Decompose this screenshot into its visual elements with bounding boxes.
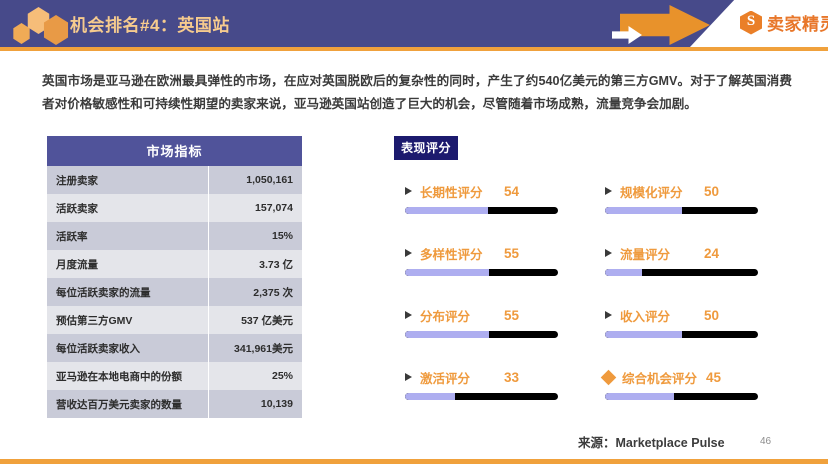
score-bar-track	[605, 207, 758, 214]
score-value: 24	[704, 246, 719, 261]
table-row: 每位活跃卖家的流量2,375 次	[47, 278, 302, 306]
table-cell-value: 2,375 次	[208, 278, 302, 306]
table-cell-value: 15%	[208, 222, 302, 250]
intro-paragraph: 英国市场是亚马逊在欧洲最具弹性的市场，在应对英国脱欧后的复杂性的同时，产生了约5…	[42, 70, 792, 116]
table-row: 亚马逊在本地电商中的份额25%	[47, 362, 302, 390]
score-item: 收入评分50	[594, 306, 794, 368]
performance-score-badge: 表现评分	[394, 136, 458, 160]
score-bar-track	[605, 331, 758, 338]
score-bar-track	[405, 331, 558, 338]
score-header-row: 规模化评分50	[594, 182, 794, 200]
table-title: 市场指标	[47, 136, 302, 166]
brand-name: 卖家精灵	[767, 10, 828, 35]
score-bar-fill	[605, 331, 682, 338]
table-cell-value: 157,074	[208, 194, 302, 222]
score-bar-fill	[405, 269, 489, 276]
table-row: 预估第三方GMV537 亿美元	[47, 306, 302, 334]
page-title: 机会排名#4：英国站	[70, 11, 230, 36]
table-row: 每位活跃卖家收入341,961美元	[47, 334, 302, 362]
score-item: 流量评分24	[594, 244, 794, 306]
score-header-row: 分布评分55	[394, 306, 594, 324]
table-cell-value: 3.73 亿	[208, 250, 302, 278]
table-cell-value: 10,139	[208, 390, 302, 418]
score-value: 55	[504, 246, 519, 261]
score-label: 分布评分	[420, 306, 496, 325]
source-label: 来源：Marketplace Pulse	[578, 432, 725, 451]
score-value: 33	[504, 370, 519, 385]
score-bar-fill	[605, 393, 674, 400]
score-bar-track	[405, 269, 558, 276]
table-cell-value: 1,050,161	[208, 166, 302, 194]
table-row: 营收达百万美元卖家的数量10,139	[47, 390, 302, 418]
score-item: 长期性评分54	[394, 182, 594, 244]
score-item: 激活评分33	[394, 368, 594, 430]
score-item: 多样性评分55	[394, 244, 594, 306]
score-item: 分布评分55	[394, 306, 594, 368]
score-bar-fill	[605, 207, 682, 214]
table-cell-label: 每位活跃卖家的流量	[47, 278, 208, 306]
page-number: 46	[760, 436, 771, 447]
hexagon-cluster-icon	[12, 6, 74, 44]
table-cell-label: 活跃率	[47, 222, 208, 250]
triangle-right-icon	[405, 187, 412, 195]
triangle-right-icon	[405, 249, 412, 257]
score-label: 规模化评分	[620, 182, 696, 201]
table-cell-label: 每位活跃卖家收入	[47, 334, 208, 362]
page-header: 机会排名#4：英国站 卖家精灵	[0, 0, 828, 47]
score-header-row: 长期性评分54	[394, 182, 594, 200]
score-label: 收入评分	[620, 306, 696, 325]
table-cell-label: 注册卖家	[47, 166, 208, 194]
score-value: 54	[504, 184, 519, 199]
score-bar-fill	[405, 207, 488, 214]
table-cell-label: 月度流量	[47, 250, 208, 278]
score-bar-fill	[605, 269, 642, 276]
score-bar-track	[405, 393, 558, 400]
score-header-row: 多样性评分55	[394, 244, 594, 262]
table-cell-label: 活跃卖家	[47, 194, 208, 222]
table-cell-value: 537 亿美元	[208, 306, 302, 334]
triangle-right-icon	[605, 249, 612, 257]
score-item: 规模化评分50	[594, 182, 794, 244]
score-value: 50	[704, 308, 719, 323]
table-row: 活跃卖家157,074	[47, 194, 302, 222]
table-cell-value: 25%	[208, 362, 302, 390]
brand-hexagon-icon	[740, 11, 762, 35]
table-row: 月度流量3.73 亿	[47, 250, 302, 278]
score-label: 综合机会评分	[622, 368, 698, 387]
triangle-right-icon	[405, 311, 412, 319]
brand-logo: 卖家精灵	[740, 10, 828, 35]
score-grid: 长期性评分54规模化评分50多样性评分55流量评分24分布评分55收入评分50激…	[394, 182, 794, 430]
header-accent-bar	[0, 47, 828, 51]
score-header-row: 激活评分33	[394, 368, 594, 386]
table-cell-value: 341,961美元	[208, 334, 302, 362]
footer-accent-bar	[0, 459, 828, 464]
table-row: 活跃率15%	[47, 222, 302, 250]
table-body: 注册卖家1,050,161活跃卖家157,074活跃率15%月度流量3.73 亿…	[47, 166, 302, 418]
score-value: 50	[704, 184, 719, 199]
triangle-right-icon	[405, 373, 412, 381]
table-cell-label: 营收达百万美元卖家的数量	[47, 390, 208, 418]
score-bar-track	[405, 207, 558, 214]
score-item: 综合机会评分45	[594, 368, 794, 430]
table-cell-label: 预估第三方GMV	[47, 306, 208, 334]
score-header-row: 综合机会评分45	[594, 368, 794, 386]
score-bar-track	[605, 393, 758, 400]
score-header-row: 流量评分24	[594, 244, 794, 262]
score-bar-fill	[405, 393, 455, 400]
score-bar-fill	[405, 331, 489, 338]
triangle-right-icon	[605, 187, 612, 195]
score-value: 45	[706, 370, 721, 385]
table-cell-label: 亚马逊在本地电商中的份额	[47, 362, 208, 390]
score-bar-track	[605, 269, 758, 276]
score-label: 激活评分	[420, 368, 496, 387]
market-metrics-table: 市场指标 注册卖家1,050,161活跃卖家157,074活跃率15%月度流量3…	[47, 136, 302, 418]
score-header-row: 收入评分50	[594, 306, 794, 324]
score-label: 流量评分	[620, 244, 696, 263]
score-label: 长期性评分	[420, 182, 496, 201]
score-label: 多样性评分	[420, 244, 496, 263]
score-value: 55	[504, 308, 519, 323]
triangle-right-icon	[605, 311, 612, 319]
table-row: 注册卖家1,050,161	[47, 166, 302, 194]
diamond-icon	[601, 369, 617, 385]
